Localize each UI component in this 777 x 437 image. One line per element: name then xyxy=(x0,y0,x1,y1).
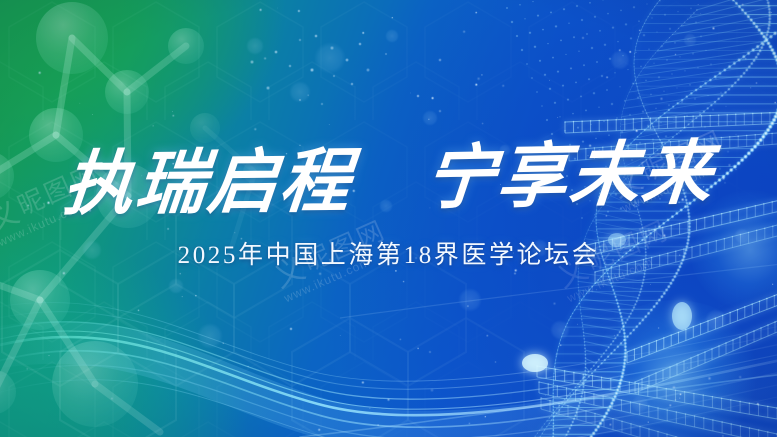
banner-root: 执瑞启程 宁享未来 2025年中国上海第18界医学论坛会 义昵图网 www.ik… xyxy=(0,0,777,437)
background-vignette xyxy=(0,0,777,437)
